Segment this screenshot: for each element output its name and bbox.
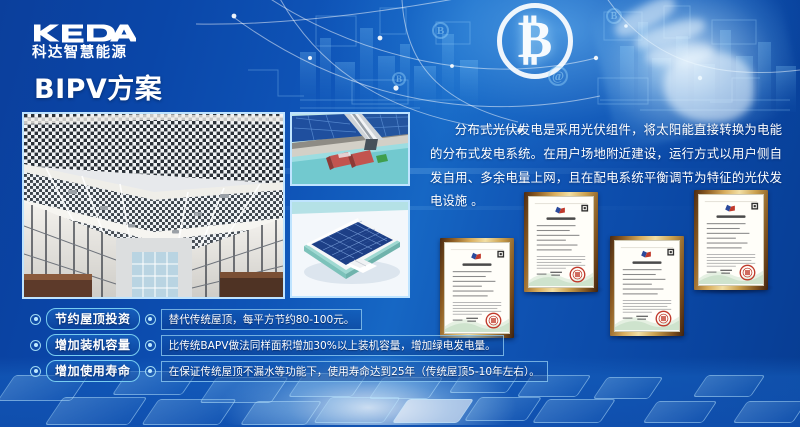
list-item: 增加装机容量 比传统BAPV做法同样面积增加30%以上装机容量，增加绿电发电量。 (30, 334, 500, 356)
certificate-frame (524, 192, 598, 292)
hand-palm (664, 52, 754, 122)
hand-finger-3 (645, 41, 715, 68)
at-sign-icon: @ (548, 66, 568, 86)
feature-label: 增加装机容量 (46, 334, 140, 356)
feature-label: 增加使用寿命 (46, 360, 140, 382)
certificate-frame (610, 236, 684, 336)
floor-tile (593, 377, 664, 399)
floor-tile (464, 397, 542, 421)
atrium-graphics (24, 114, 283, 297)
certificate-content (615, 241, 679, 330)
bitcoin-small-icon-3: B (606, 8, 622, 24)
bullet-dot-icon (30, 340, 41, 351)
bullet-dot-icon (30, 314, 41, 325)
feature-list: 节约屋顶投资 替代传统屋顶，每平方节约80-100元。 增加装机容量 比传统BA… (30, 308, 500, 386)
feature-label: 节约屋顶投资 (46, 308, 140, 330)
hand-finger-2 (633, 14, 708, 53)
feature-desc: 比传统BAPV做法同样面积增加30%以上装机容量，增加绿电发电量。 (161, 335, 504, 356)
bipv-module-diagram (290, 200, 410, 298)
atrium-image (24, 114, 283, 297)
certificate-page (698, 194, 764, 286)
floor-tile (693, 375, 766, 397)
floor-tile (240, 401, 322, 425)
certificate-content (529, 197, 593, 286)
keda-wordmark-icon (32, 22, 136, 44)
floor-tile (392, 399, 474, 423)
hand-finger-1 (611, 0, 680, 42)
floor-tile (141, 399, 237, 425)
brand-name-cn: 科达智慧能源 (32, 46, 140, 61)
atrium-photo (22, 112, 285, 299)
floor-tile (643, 401, 718, 423)
bullet-dot-icon (30, 366, 41, 377)
feature-desc: 在保证传统屋顶不漏水等功能下，使用寿命达到25年（传统屋顶5-10年左右）。 (161, 361, 548, 382)
floor-tile (45, 397, 148, 425)
bullet-dot-icon (145, 366, 156, 377)
list-item: 节约屋顶投资 替代传统屋顶，每平方节约80-100元。 (30, 308, 500, 330)
module-diagram-graphics (292, 202, 408, 296)
brand-logo: 科达智慧能源 (32, 22, 140, 61)
floor-tile (532, 399, 616, 423)
certificate-frame (694, 190, 768, 290)
page-title: BIPV方案 (34, 76, 162, 103)
bitcoin-small-icon-1: B (432, 22, 449, 39)
list-item: 增加使用寿命 在保证传统屋顶不漏水等功能下，使用寿命达到25年（传统屋顶5-10… (30, 360, 500, 382)
floor-tile (733, 401, 800, 423)
floor-tile (313, 397, 401, 423)
bitcoin-small-icon-2: B (392, 72, 406, 86)
poster-canvas: ₿ B B B @ (0, 0, 800, 427)
bitcoin-circle-icon: ₿ (497, 3, 573, 79)
bullet-dot-icon (145, 340, 156, 351)
certificate-page (614, 240, 680, 332)
certificate-content (699, 195, 763, 284)
bullet-dot-icon (145, 314, 156, 325)
bipv-mounting-diagram (290, 112, 410, 186)
feature-desc: 替代传统屋顶，每平方节约80-100元。 (161, 309, 363, 330)
mounting-diagram-graphics (292, 114, 408, 184)
certificate-item (610, 236, 684, 336)
certificate-page (528, 196, 594, 288)
certificate-item (524, 192, 598, 292)
certificate-item (694, 190, 768, 290)
